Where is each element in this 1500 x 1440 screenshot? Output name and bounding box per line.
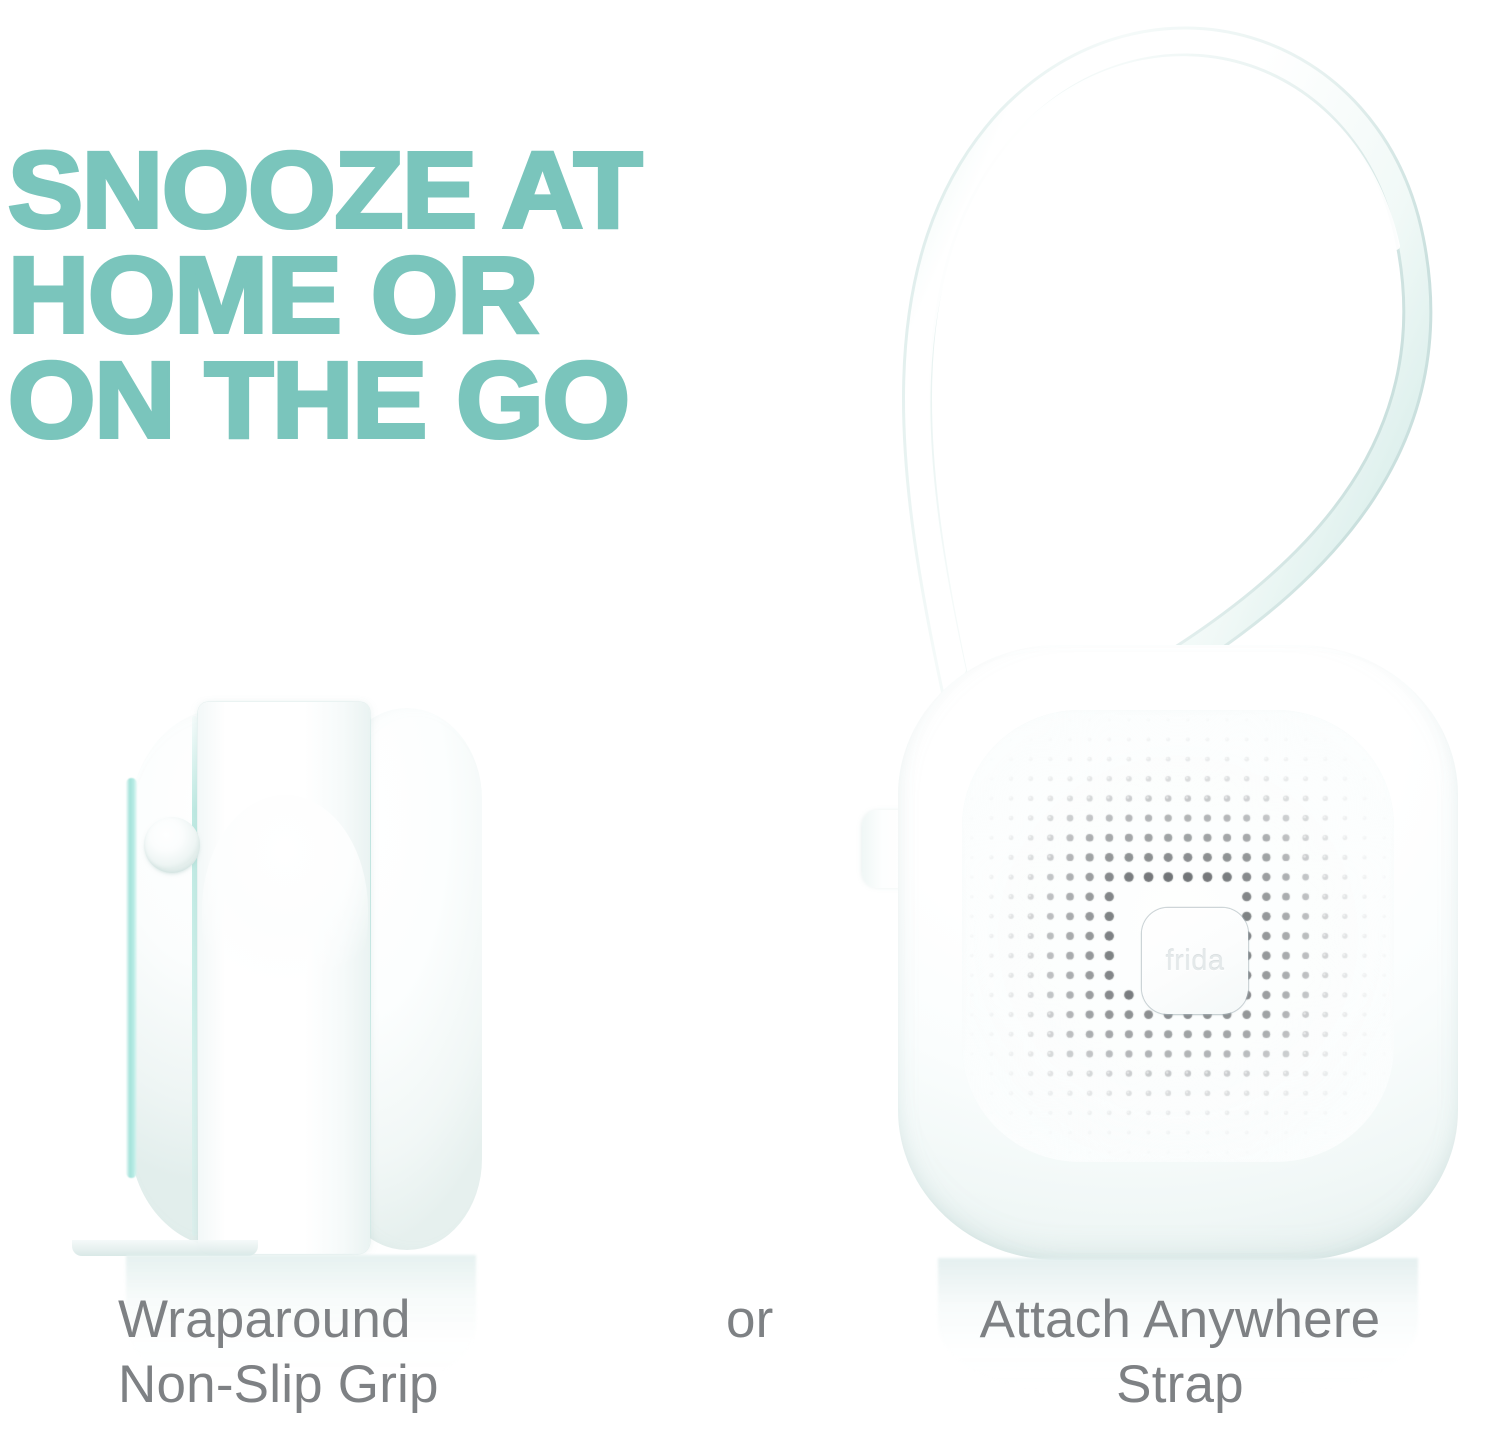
grip-seam-left	[192, 716, 197, 1236]
headline-line-2: HOME OR	[8, 243, 798, 348]
caption-wraparound-grip: Wraparound Non-Slip Grip	[118, 1288, 638, 1417]
caption-attach-anywhere-strap: Attach Anywhere Strap	[880, 1288, 1480, 1417]
product-wraparound-grip	[120, 690, 480, 1265]
caption-or-text: or	[726, 1288, 846, 1353]
marketing-image-canvas: SNOOZE AT HOME OR ON THE GO	[0, 0, 1500, 1440]
product-sound-machine: frida	[850, 10, 1490, 1300]
caption-left-line-2: Non-Slip Grip	[118, 1353, 638, 1418]
grip-mint-edge-strip	[126, 778, 137, 1178]
frida-logo-pad: frida	[1142, 908, 1248, 1014]
caption-connector: or	[726, 1288, 846, 1353]
caption-right-line-2: Strap	[880, 1353, 1480, 1418]
grip-band-highlight	[202, 795, 368, 1025]
grip-round-button	[144, 817, 200, 873]
grip-bottom-edge	[72, 1240, 258, 1256]
headline: SNOOZE AT HOME OR ON THE GO	[8, 138, 768, 452]
caption-left-line-1: Wraparound	[118, 1288, 638, 1353]
frida-wordmark: frida	[1166, 945, 1225, 978]
caption-right-line-1: Attach Anywhere	[880, 1288, 1480, 1353]
headline-line-1: SNOOZE AT	[8, 138, 798, 243]
headline-line-3: ON THE GO	[8, 348, 798, 453]
